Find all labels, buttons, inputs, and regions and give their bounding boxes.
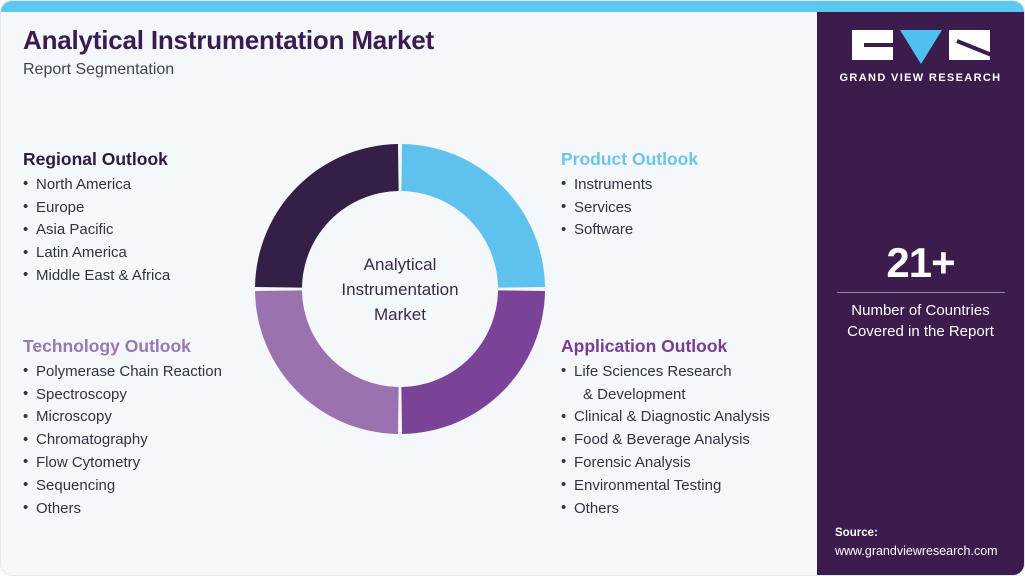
infographic-card: Analytical Instrumentation Market Report… xyxy=(0,0,1025,576)
list-item: Others xyxy=(23,498,222,521)
technology-outlook-list: Polymerase Chain Reaction Spectroscopy M… xyxy=(23,361,222,521)
donut-chart: Analytical Instrumentation Market xyxy=(255,144,545,434)
logo-marks xyxy=(817,30,1024,64)
stat-block: 21+ Number of Countries Covered in the R… xyxy=(817,240,1024,342)
list-item: Life Sciences Research xyxy=(561,361,770,384)
main-content: Analytical Instrumentation Market Report… xyxy=(1,12,819,576)
logo-letter-r-icon xyxy=(949,30,990,60)
list-item: Polymerase Chain Reaction xyxy=(23,361,222,384)
stat-number: 21+ xyxy=(817,240,1024,286)
donut-chart-svg xyxy=(255,144,545,434)
header: Analytical Instrumentation Market Report… xyxy=(23,25,434,79)
list-item: Asia Pacific xyxy=(23,219,170,242)
list-item: Instruments xyxy=(561,174,698,197)
logo-letter-v-triangle-icon xyxy=(900,30,942,64)
list-item: Sequencing xyxy=(23,475,222,498)
product-outlook-title: Product Outlook xyxy=(561,148,698,171)
list-item: Spectroscopy xyxy=(23,384,222,407)
source-title: Source: xyxy=(835,525,1025,542)
regional-outlook-list: North America Europe Asia Pacific Latin … xyxy=(23,174,170,288)
list-item-continuation: & Development xyxy=(561,384,770,407)
technology-outlook-block: Technology Outlook Polymerase Chain Reac… xyxy=(23,335,222,520)
list-item: Clinical & Diagnostic Analysis xyxy=(561,406,770,429)
stat-label-line-2: Covered in the Report xyxy=(817,321,1024,342)
list-item: North America xyxy=(23,174,170,197)
stat-divider xyxy=(837,292,1005,293)
stat-label: Number of Countries Covered in the Repor… xyxy=(817,300,1024,342)
source-url[interactable]: www.grandviewresearch.com xyxy=(835,542,1025,560)
donut-segment xyxy=(401,144,545,288)
list-item: Forensic Analysis xyxy=(561,452,770,475)
source-block: Source: www.grandviewresearch.com xyxy=(835,525,1025,560)
logo-wordmark: GRAND VIEW RESEARCH xyxy=(817,72,1024,84)
sidebar: GRAND VIEW RESEARCH 21+ Number of Countr… xyxy=(817,12,1024,576)
logo-letter-g-icon xyxy=(852,30,893,60)
regional-outlook-block: Regional Outlook North America Europe As… xyxy=(23,148,170,288)
list-item: Microscopy xyxy=(23,406,222,429)
stat-label-line-1: Number of Countries xyxy=(817,300,1024,321)
list-item: Others xyxy=(561,498,770,521)
list-item: Middle East & Africa xyxy=(23,265,170,288)
list-item: Environmental Testing xyxy=(561,475,770,498)
list-item: Software xyxy=(561,219,698,242)
product-outlook-block: Product Outlook Instruments Services Sof… xyxy=(561,148,698,242)
list-item: Flow Cytometry xyxy=(23,452,222,475)
donut-segment xyxy=(401,290,545,434)
technology-outlook-title: Technology Outlook xyxy=(23,335,222,358)
regional-outlook-title: Regional Outlook xyxy=(23,148,170,171)
donut-segment xyxy=(255,290,399,434)
list-item: Europe xyxy=(23,197,170,220)
list-item: Latin America xyxy=(23,242,170,265)
page-title: Analytical Instrumentation Market xyxy=(23,25,434,56)
application-outlook-list: Life Sciences Research & Development Cli… xyxy=(561,361,770,521)
brand-logo: GRAND VIEW RESEARCH xyxy=(817,30,1024,84)
donut-segment xyxy=(255,144,399,288)
product-outlook-list: Instruments Services Software xyxy=(561,174,698,242)
list-item: Services xyxy=(561,197,698,220)
page-subtitle: Report Segmentation xyxy=(23,61,434,79)
list-item: Chromatography xyxy=(23,429,222,452)
list-item: Food & Beverage Analysis xyxy=(561,429,770,452)
application-outlook-title: Application Outlook xyxy=(561,335,770,358)
top-accent-bar xyxy=(1,1,1025,12)
application-outlook-block: Application Outlook Life Sciences Resear… xyxy=(561,335,770,520)
